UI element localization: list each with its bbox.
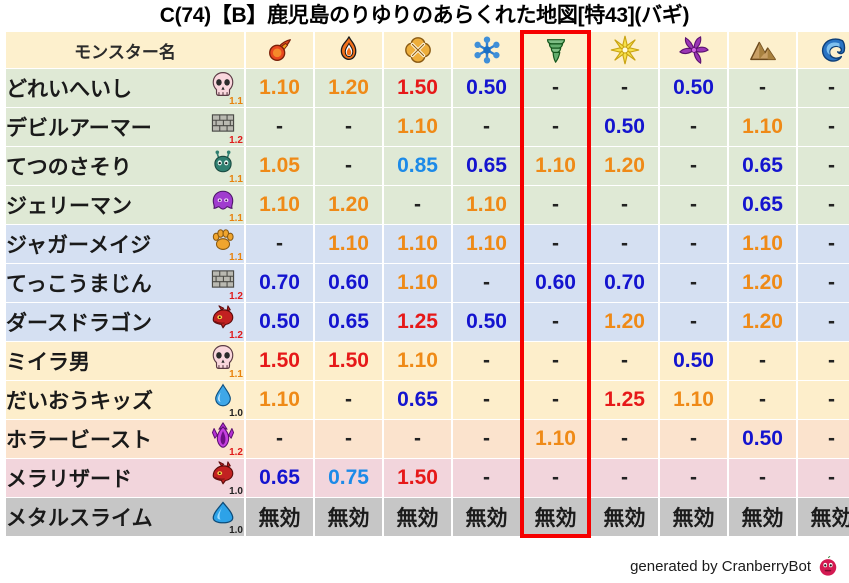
damage-cell: 無効 — [660, 498, 727, 536]
damage-cell: 1.25 — [384, 303, 451, 341]
bricks-icon — [210, 110, 236, 136]
damage-cell: 1.10 — [729, 225, 796, 263]
damage-cell: 1.10 — [729, 108, 796, 146]
damage-cell: - — [591, 420, 658, 458]
damage-cell: 1.10 — [453, 186, 520, 224]
damage-cell: - — [798, 108, 849, 146]
monster-badge: 1.2 — [208, 305, 242, 339]
damage-cell: - — [591, 69, 658, 107]
damage-cell: - — [453, 108, 520, 146]
bug-icon — [210, 149, 236, 175]
damage-cell: 0.85 — [384, 147, 451, 185]
monster-version-label: 1.0 — [229, 409, 243, 419]
damage-cell: - — [315, 420, 382, 458]
damage-cell: 1.10 — [315, 225, 382, 263]
damage-cell: - — [522, 303, 589, 341]
slime-icon — [210, 500, 236, 526]
damage-cell: - — [522, 459, 589, 497]
ghost-icon — [210, 188, 236, 214]
header-element-snowflake[interactable] — [453, 32, 520, 68]
damage-cell: - — [591, 459, 658, 497]
damage-cell: - — [453, 420, 520, 458]
explosion-icon — [403, 35, 433, 65]
monster-version-label: 1.2 — [229, 448, 243, 458]
damage-cell: - — [729, 69, 796, 107]
damage-cell: 0.70 — [246, 264, 313, 302]
damage-cell: 無効 — [591, 498, 658, 536]
damage-cell: - — [798, 69, 849, 107]
monster-name-label: ダースドラゴン — [6, 307, 152, 337]
header-element-fireball[interactable] — [246, 32, 313, 68]
table-row: どれいへいし1.11.101.201.500.50--0.50-- — [6, 69, 849, 107]
table-row: メタルスライム1.0無効無効無効無効無効無効無効無効無効 — [6, 498, 849, 536]
monster-name-label: ホラービースト — [6, 424, 152, 454]
damage-cell: - — [729, 459, 796, 497]
monster-version-label: 1.1 — [229, 97, 243, 107]
damage-cell: - — [453, 459, 520, 497]
dragon-icon — [210, 461, 236, 487]
damage-cell: 無効 — [729, 498, 796, 536]
damage-cell: - — [660, 186, 727, 224]
damage-cell: - — [798, 225, 849, 263]
monster-name-cell[interactable]: ミイラ男1.1 — [6, 342, 244, 380]
wave-icon — [817, 35, 847, 65]
table-row: だいおうキッズ1.01.10-0.65--1.251.10-- — [6, 381, 849, 419]
monster-name-cell[interactable]: どれいへいし1.1 — [6, 69, 244, 107]
header-element-flame[interactable] — [315, 32, 382, 68]
damage-cell: 0.50 — [660, 342, 727, 380]
damage-cell: 1.10 — [246, 69, 313, 107]
table-row: ジャガーメイジ1.1-1.101.101.10---1.10- — [6, 225, 849, 263]
damage-cell: 0.65 — [384, 381, 451, 419]
damage-cell: 無効 — [315, 498, 382, 536]
monster-name-label: てつのさそり — [6, 151, 132, 181]
damage-cell: - — [729, 381, 796, 419]
table-row: メラリザード1.00.650.751.50------ — [6, 459, 849, 497]
damage-cell: 0.50 — [729, 420, 796, 458]
damage-cell: - — [522, 69, 589, 107]
damage-cell: - — [591, 186, 658, 224]
damage-cell: - — [798, 342, 849, 380]
monster-version-label: 1.0 — [229, 487, 243, 497]
damage-cell: - — [798, 264, 849, 302]
monster-badge: 1.0 — [208, 461, 242, 495]
table-row: デビルアーマー1.2--1.10--0.50-1.10- — [6, 108, 849, 146]
damage-cell: 無効 — [798, 498, 849, 536]
bricks-icon — [210, 266, 236, 292]
damage-cell: 1.50 — [315, 342, 382, 380]
damage-cell: - — [798, 420, 849, 458]
header-element-wave[interactable] — [798, 32, 849, 68]
damage-cell: 1.10 — [246, 186, 313, 224]
damage-cell: 1.10 — [522, 147, 589, 185]
damage-cell: 0.50 — [591, 108, 658, 146]
table-header: モンスター名 — [6, 32, 849, 68]
monster-name-cell[interactable]: ジェリーマン1.1 — [6, 186, 244, 224]
footer: generated by CranberryBot — [630, 555, 839, 577]
damage-cell: - — [798, 147, 849, 185]
damage-cell: - — [591, 225, 658, 263]
damage-cell: - — [660, 147, 727, 185]
table-row: ジェリーマン1.11.101.20-1.10---0.65- — [6, 186, 849, 224]
damage-cell: 0.65 — [453, 147, 520, 185]
monster-name-label: どれいへいし — [6, 73, 132, 103]
damage-cell: 1.10 — [522, 420, 589, 458]
monster-badge: 1.1 — [208, 227, 242, 261]
header-element-mountain[interactable] — [729, 32, 796, 68]
damage-cell: - — [522, 108, 589, 146]
monster-version-label: 1.2 — [229, 136, 243, 146]
snowflake-icon — [472, 35, 502, 65]
monster-badge: 1.2 — [208, 422, 242, 456]
damage-cell: - — [315, 381, 382, 419]
damage-cell: - — [522, 342, 589, 380]
monster-version-label: 1.1 — [229, 175, 243, 185]
damage-cell: 0.50 — [453, 303, 520, 341]
damage-cell: 0.65 — [315, 303, 382, 341]
monster-version-label: 1.1 — [229, 253, 243, 263]
star-flash-icon — [610, 35, 640, 65]
damage-cell: - — [729, 342, 796, 380]
monster-name-cell[interactable]: てっこうまじん1.2 — [6, 264, 244, 302]
monster-badge: 1.1 — [208, 71, 242, 105]
monster-version-label: 1.1 — [229, 214, 243, 224]
damage-cell: - — [660, 420, 727, 458]
monster-name-cell[interactable]: ダースドラゴン1.2 — [6, 303, 244, 341]
damage-cell: - — [660, 459, 727, 497]
table-body: どれいへいし1.11.101.201.500.50--0.50--デビルアーマー… — [6, 69, 849, 536]
damage-cell: 1.50 — [384, 69, 451, 107]
damage-cell: - — [798, 381, 849, 419]
damage-cell: 1.25 — [591, 381, 658, 419]
damage-cell: - — [453, 381, 520, 419]
monster-name-label: デビルアーマー — [6, 112, 152, 142]
damage-cell: - — [384, 186, 451, 224]
damage-cell: - — [522, 186, 589, 224]
monster-name-label: ジェリーマン — [6, 190, 132, 220]
header-monster-name: モンスター名 — [6, 32, 244, 68]
header-element-tornado[interactable] — [522, 32, 589, 68]
damage-cell: - — [798, 459, 849, 497]
mountain-icon — [748, 35, 778, 65]
damage-cell: 無効 — [384, 498, 451, 536]
monster-name-label: てっこうまじん — [6, 268, 152, 298]
monster-version-label: 1.2 — [229, 292, 243, 302]
trident-icon — [210, 422, 236, 448]
footer-text: generated by CranberryBot — [630, 558, 811, 575]
cranberry-icon — [817, 555, 839, 577]
damage-cell: 0.65 — [729, 147, 796, 185]
damage-cell: 1.10 — [384, 264, 451, 302]
damage-cell: 0.75 — [315, 459, 382, 497]
damage-cell: - — [660, 225, 727, 263]
damage-cell: 0.50 — [453, 69, 520, 107]
table-row: ミイラ男1.11.501.501.10---0.50-- — [6, 342, 849, 380]
paw-icon — [210, 227, 236, 253]
damage-cell: - — [384, 420, 451, 458]
damage-cell: - — [453, 264, 520, 302]
damage-cell: 1.10 — [384, 342, 451, 380]
monster-name-label: ジャガーメイジ — [6, 229, 151, 259]
damage-cell: - — [315, 147, 382, 185]
fireball-icon — [265, 35, 295, 65]
damage-cell: 1.10 — [660, 381, 727, 419]
header-element-explosion[interactable] — [384, 32, 451, 68]
monster-name-cell[interactable]: だいおうキッズ1.0 — [6, 381, 244, 419]
damage-cell: 1.10 — [384, 225, 451, 263]
table-row: ダースドラゴン1.20.500.651.250.50-1.20-1.20- — [6, 303, 849, 341]
table-row: てつのさそり1.11.05-0.850.651.101.20-0.65- — [6, 147, 849, 185]
table-row: てっこうまじん1.20.700.601.10-0.600.70-1.20- — [6, 264, 849, 302]
monster-badge: 1.0 — [208, 383, 242, 417]
monster-name-cell[interactable]: ホラービースト1.2 — [6, 420, 244, 458]
damage-matrix-container: モンスター名 どれいへいし1.11.101.201.500.50--0.50--… — [0, 31, 849, 537]
monster-badge: 1.0 — [208, 500, 242, 534]
monster-version-label: 1.0 — [229, 526, 243, 536]
damage-cell: - — [798, 303, 849, 341]
header-row: モンスター名 — [6, 32, 849, 68]
damage-cell: - — [246, 420, 313, 458]
dragon-icon — [210, 305, 236, 331]
damage-cell: 0.60 — [315, 264, 382, 302]
damage-cell: 1.20 — [315, 186, 382, 224]
damage-cell: 0.50 — [660, 69, 727, 107]
header-element-star-flash[interactable] — [591, 32, 658, 68]
table-row: ホラービースト1.2----1.10--0.50- — [6, 420, 849, 458]
damage-cell: 1.50 — [246, 342, 313, 380]
damage-cell: 1.20 — [315, 69, 382, 107]
damage-cell: 0.65 — [246, 459, 313, 497]
damage-cell: 1.10 — [246, 381, 313, 419]
damage-cell: 無効 — [246, 498, 313, 536]
damage-cell: 0.50 — [246, 303, 313, 341]
monster-name-cell[interactable]: メラリザード1.0 — [6, 459, 244, 497]
damage-cell: 1.05 — [246, 147, 313, 185]
damage-cell: 0.60 — [522, 264, 589, 302]
damage-cell: 1.20 — [591, 147, 658, 185]
damage-cell: - — [660, 303, 727, 341]
monster-badge: 1.1 — [208, 344, 242, 378]
damage-cell: 1.10 — [453, 225, 520, 263]
damage-cell: - — [522, 225, 589, 263]
droplet-icon — [210, 383, 236, 409]
monster-name-cell[interactable]: てつのさそり1.1 — [6, 147, 244, 185]
damage-cell: 無効 — [522, 498, 589, 536]
damage-cell: 1.50 — [384, 459, 451, 497]
damage-cell: - — [798, 186, 849, 224]
monster-badge: 1.2 — [208, 110, 242, 144]
monster-name-label: ミイラ男 — [6, 346, 90, 376]
damage-cell: - — [453, 342, 520, 380]
monster-name-label: だいおうキッズ — [6, 385, 153, 415]
header-element-pinwheel[interactable] — [660, 32, 727, 68]
tornado-icon — [541, 35, 571, 65]
damage-cell: - — [522, 381, 589, 419]
damage-cell: 無効 — [453, 498, 520, 536]
monster-name-label: メラリザード — [6, 463, 132, 493]
damage-cell: - — [246, 108, 313, 146]
monster-name-cell[interactable]: メタルスライム1.0 — [6, 498, 244, 536]
monster-version-label: 1.2 — [229, 331, 243, 341]
damage-cell: 0.70 — [591, 264, 658, 302]
monster-version-label: 1.1 — [229, 370, 243, 380]
monster-badge: 1.1 — [208, 188, 242, 222]
monster-badge: 1.2 — [208, 266, 242, 300]
monster-name-cell[interactable]: デビルアーマー1.2 — [6, 108, 244, 146]
damage-matrix-table: モンスター名 どれいへいし1.11.101.201.500.50--0.50--… — [4, 31, 849, 537]
damage-cell: - — [660, 108, 727, 146]
damage-cell: - — [660, 264, 727, 302]
damage-cell: 1.20 — [591, 303, 658, 341]
monster-badge: 1.1 — [208, 149, 242, 183]
damage-cell: 0.65 — [729, 186, 796, 224]
damage-cell: - — [315, 108, 382, 146]
skull-icon — [210, 71, 236, 97]
pinwheel-icon — [679, 35, 709, 65]
damage-cell: 1.10 — [384, 108, 451, 146]
damage-cell: 1.20 — [729, 264, 796, 302]
flame-icon — [334, 35, 364, 65]
damage-cell: - — [246, 225, 313, 263]
monster-name-cell[interactable]: ジャガーメイジ1.1 — [6, 225, 244, 263]
monster-name-label: メタルスライム — [6, 502, 153, 532]
damage-cell: 1.20 — [729, 303, 796, 341]
damage-cell: - — [591, 342, 658, 380]
page-title: C(74)【B】鹿児島のりゆりのあらくれた地図[特43](バギ) — [0, 0, 849, 31]
skull-icon — [210, 344, 236, 370]
